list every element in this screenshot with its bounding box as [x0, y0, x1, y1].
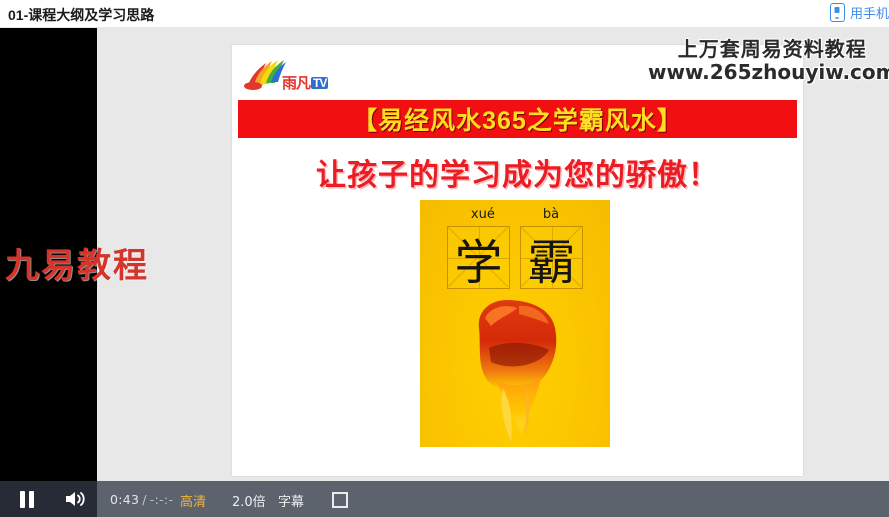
- character-grid: 学 霸: [420, 226, 610, 289]
- slide-headline: 让孩子的学习成为您的骄傲！: [232, 150, 803, 194]
- pause-icon[interactable]: [18, 490, 36, 508]
- brand-logo: 雨凡TV: [242, 51, 328, 91]
- slide-title-banner: 【易经风水365之学霸风水】: [238, 100, 797, 138]
- page-title: 01-课程大纲及学习思路: [8, 5, 154, 25]
- fullscreen-icon[interactable]: [332, 492, 348, 508]
- pinyin-ba: bà: [543, 207, 559, 222]
- time-display: 0:43/-:-:-: [110, 492, 173, 507]
- pinyin-row: xué bà: [420, 207, 610, 222]
- page-header: 01-课程大纲及学习思路 用手机: [0, 0, 889, 28]
- player-control-bar: 0:43/-:-:- 高清 2.0倍 字幕: [0, 481, 889, 517]
- quality-button[interactable]: 高清: [180, 491, 206, 510]
- character-box-xue: 学: [447, 226, 510, 289]
- phone-icon: [830, 3, 845, 22]
- subtitle-button[interactable]: 字幕: [278, 491, 304, 510]
- character-box-ba: 霸: [520, 226, 583, 289]
- watch-on-mobile-label: 用手机: [850, 3, 889, 22]
- video-letterbox: [0, 28, 97, 481]
- pinyin-xue: xué: [471, 207, 495, 222]
- slide-title-text: 【易经风水365之学霸风水】: [352, 101, 683, 137]
- slide-illustration: xué bà 学: [420, 200, 610, 447]
- character-xue: 学: [448, 227, 509, 288]
- video-player-page: 01-课程大纲及学习思路 用手机 雨凡TV: [0, 0, 889, 517]
- flaming-fist-icon: [455, 292, 575, 444]
- volume-icon[interactable]: [64, 490, 86, 508]
- slide-content: 雨凡TV 【易经风水365之学霸风水】 让孩子的学习成为您的骄傲！ xué bà: [232, 45, 803, 476]
- logo-text: 雨凡TV: [282, 76, 328, 91]
- current-time: 0:43: [110, 492, 139, 507]
- playback-speed-button[interactable]: 2.0倍: [232, 491, 266, 510]
- total-time: -:-:-: [150, 492, 173, 507]
- watch-on-mobile-link[interactable]: 用手机: [830, 3, 889, 22]
- logo-name: 雨凡: [282, 75, 310, 92]
- logo-tv-badge: TV: [311, 77, 328, 89]
- character-ba: 霸: [521, 227, 582, 288]
- logo-flame-icon: [242, 57, 286, 91]
- time-separator: /: [142, 492, 147, 507]
